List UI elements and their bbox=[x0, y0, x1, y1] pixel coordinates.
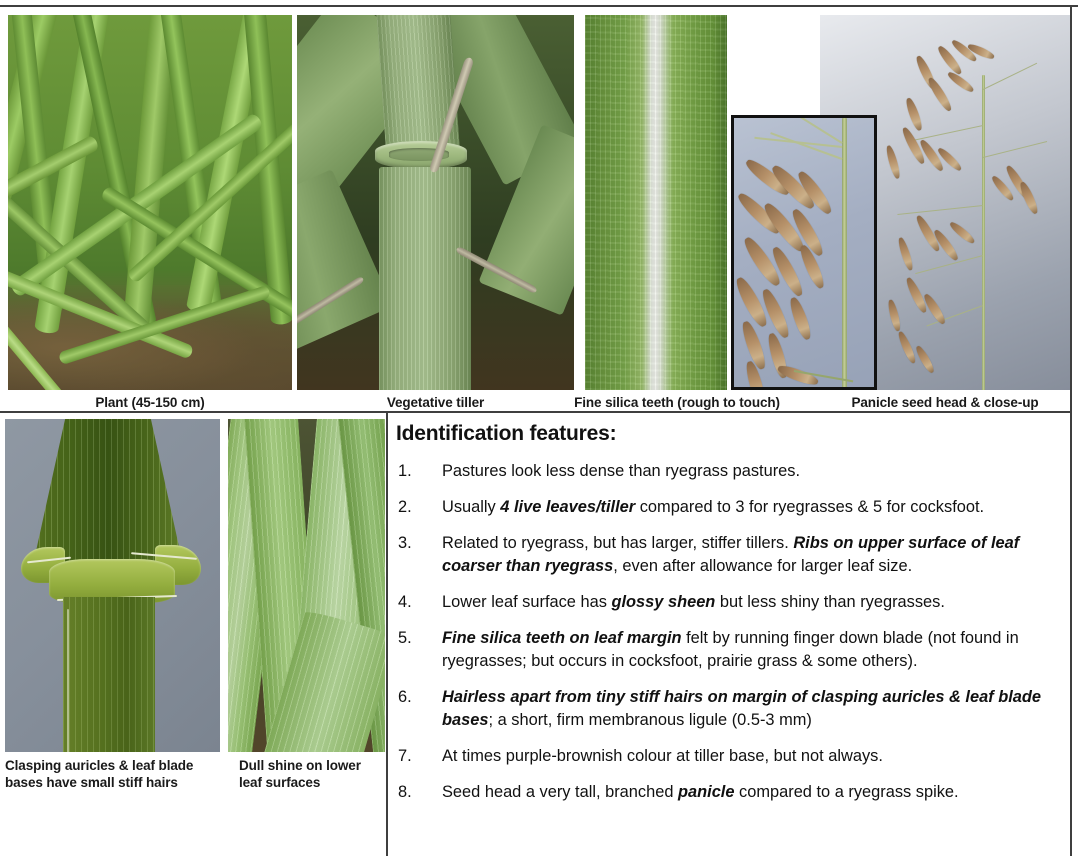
feature-item: 6.Hairless apart from tiny stiff hairs o… bbox=[396, 686, 1068, 732]
feature-item: 1.Pastures look less dense than ryegrass… bbox=[396, 460, 1068, 483]
feature-item-text: Related to ryegrass, but has larger, sti… bbox=[442, 534, 1019, 575]
feature-item-text: Hairless apart from tiny stiff hairs on … bbox=[442, 688, 1041, 729]
feature-item-text: Usually 4 live leaves/tiller compared to… bbox=[442, 498, 984, 516]
feature-item: 2.Usually 4 live leaves/tiller compared … bbox=[396, 496, 1068, 519]
feature-item: 3.Related to ryegrass, but has larger, s… bbox=[396, 532, 1068, 578]
feature-item-text: Fine silica teeth on leaf margin felt by… bbox=[442, 629, 1019, 670]
plant-photo bbox=[8, 15, 292, 390]
feature-item-number: 2. bbox=[398, 496, 412, 519]
feature-item-number: 1. bbox=[398, 460, 412, 483]
right-border-rule bbox=[1070, 5, 1072, 856]
silica-teeth-photo-scene bbox=[585, 15, 727, 390]
middle-divider-rule bbox=[0, 411, 1072, 413]
feature-item-number: 8. bbox=[398, 781, 412, 804]
plant-photo-caption: Plant (45-150 cm) bbox=[8, 394, 292, 411]
vegetative-tiller-photo bbox=[297, 15, 574, 390]
feature-item: 5.Fine silica teeth on leaf margin felt … bbox=[396, 627, 1068, 673]
feature-item-text: Pastures look less dense than ryegrass p… bbox=[442, 462, 800, 480]
feature-item-text: Lower leaf surface has glossy sheen but … bbox=[442, 593, 945, 611]
identification-features-heading: Identification features: bbox=[396, 422, 1068, 446]
feature-item-text: At times purple-brownish colour at tille… bbox=[442, 747, 883, 765]
feature-item: 7.At times purple-brownish colour at til… bbox=[396, 745, 1068, 768]
auricle-photo bbox=[5, 419, 220, 752]
feature-item-text: Seed head a very tall, branched panicle … bbox=[442, 783, 959, 801]
feature-item: 8.Seed head a very tall, branched panicl… bbox=[396, 781, 1068, 804]
plant-photo-scene bbox=[8, 15, 292, 390]
feature-item-number: 5. bbox=[398, 627, 412, 650]
identification-features-list: 1.Pastures look less dense than ryegrass… bbox=[396, 460, 1068, 804]
feature-item: 4.Lower leaf surface has glossy sheen bu… bbox=[396, 591, 1068, 614]
silica-teeth-photo-caption: Fine silica teeth (rough to touch) bbox=[565, 394, 789, 411]
vegetative-tiller-photo-caption: Vegetative tiller bbox=[297, 394, 574, 411]
leaf-surface-photo bbox=[228, 419, 385, 752]
silica-teeth-photo bbox=[585, 15, 727, 390]
feature-item-number: 4. bbox=[398, 591, 412, 614]
document-page: Plant (45-150 cm) Vegetative tiller bbox=[0, 0, 1078, 856]
top-divider-rule bbox=[0, 5, 1078, 7]
panicle-closeup-inset bbox=[731, 115, 877, 390]
panicle-photo-caption: Panicle seed head & close-up bbox=[820, 394, 1070, 411]
auricle-photo-caption: Clasping auricles & leaf blade bases hav… bbox=[5, 757, 223, 791]
identification-features-panel: Identification features: 1.Pastures look… bbox=[396, 422, 1068, 817]
feature-item-number: 3. bbox=[398, 532, 412, 555]
auricle-photo-scene bbox=[5, 419, 220, 752]
feature-item-number: 6. bbox=[398, 686, 412, 709]
panicle-closeup-inset-scene bbox=[734, 118, 874, 387]
leaf-surface-photo-scene bbox=[228, 419, 385, 752]
feature-item-number: 7. bbox=[398, 745, 412, 768]
vegetative-tiller-photo-scene bbox=[297, 15, 574, 390]
leaf-surface-photo-caption: Dull shine on lower leaf surfaces bbox=[239, 757, 381, 791]
column-divider-rule bbox=[386, 413, 388, 856]
